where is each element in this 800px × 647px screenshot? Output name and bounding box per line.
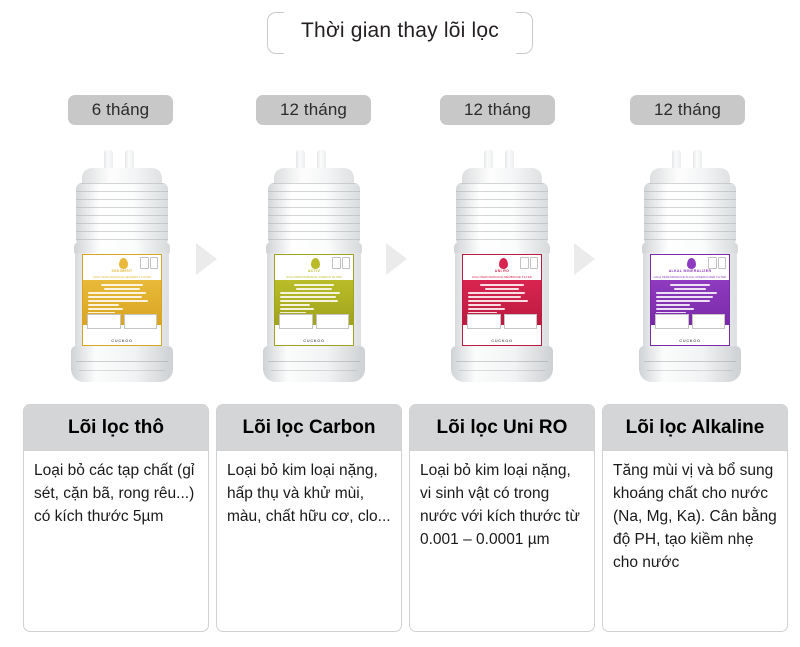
filter-info-card-body-1: Loại bỏ các tạp chất (gỉ sét, cặn bã, ro… (24, 451, 208, 529)
cartridge-base (263, 346, 365, 382)
flow-arrow-icon-3 (574, 243, 595, 275)
cartridge-label-date-fields (87, 314, 157, 329)
cartridge-brand-label: CUCKOO (275, 338, 353, 343)
cartridge-label-date-fields (467, 314, 537, 329)
cartridge-label-title: SEDIMENT (83, 269, 161, 273)
replacement-period-badge-3: 12 tháng (440, 95, 555, 125)
filter-info-card-title-4: Lõi lọc Alkaline (603, 405, 787, 451)
filter-cartridge-2: ACTIV HIGH PERFORMANCE CARBON FILTER CUC… (262, 150, 366, 382)
filter-info-card-2: Lõi lọc Carbon Loại bỏ kim loại nặng, hấ… (216, 404, 402, 632)
cartridge-label-title: UNI RO (463, 269, 541, 273)
filter-info-card-title-2: Lõi lọc Carbon (217, 405, 401, 451)
filter-info-card-title-1: Lõi lọc thô (24, 405, 208, 451)
filter-info-card-4: Lõi lọc Alkaline Tăng mùi vị và bổ sung … (602, 404, 788, 632)
cartridge-label-subtitle: HIGH PERFORMANCE MEMBRANE FILTER (463, 275, 541, 279)
cartridge-label-3: UNI RO HIGH PERFORMANCE MEMBRANE FILTER … (462, 254, 542, 346)
cartridge-label-header: ALKAL MINERALIZER HIGH PERFORMANCE ALKAL… (651, 255, 729, 281)
cartridge-label-date-fields (655, 314, 725, 329)
page-title: Thời gian thay lõi lọc (267, 12, 533, 52)
filter-info-card-1: Lõi lọc thô Loại bỏ các tạp chất (gỉ sét… (23, 404, 209, 632)
cartridge-ribbed-section (456, 183, 548, 245)
replacement-period-badge-2: 12 tháng (256, 95, 371, 125)
cartridge-label-subtitle: HIGH PERFORMANCE CARBON FILTER (275, 275, 353, 279)
certification-icons (708, 257, 726, 269)
water-drop-icon (499, 258, 508, 269)
cartridge-label-header: UNI RO HIGH PERFORMANCE MEMBRANE FILTER (463, 255, 541, 281)
cartridge-label-header: SEDIMENT HIGH PERFORMANCE SEDIMENT FILTE… (83, 255, 161, 281)
filter-cartridge-4: ALKAL MINERALIZER HIGH PERFORMANCE ALKAL… (638, 150, 742, 382)
cartridge-brand-label: CUCKOO (463, 338, 541, 343)
cartridge-ribbed-section (644, 183, 736, 245)
water-drop-icon (311, 258, 320, 269)
cartridge-label-date-fields (279, 314, 349, 329)
flow-arrow-icon-1 (196, 243, 217, 275)
cartridge-label-title: ALKAL MINERALIZER (651, 269, 729, 273)
cartridge-label-1: SEDIMENT HIGH PERFORMANCE SEDIMENT FILTE… (82, 254, 162, 346)
certification-icons (140, 257, 158, 269)
filter-info-card-3: Lõi lọc Uni RO Loại bỏ kim loại nặng, vi… (409, 404, 595, 632)
water-drop-icon (119, 258, 128, 269)
filter-info-card-body-3: Loại bỏ kim loại nặng, vi sinh vật có tr… (410, 451, 594, 552)
cartridge-ribbed-section (76, 183, 168, 245)
cartridge-base (71, 346, 173, 382)
filter-info-card-title-3: Lõi lọc Uni RO (410, 405, 594, 451)
cartridge-label-header: ACTIV HIGH PERFORMANCE CARBON FILTER (275, 255, 353, 281)
certification-icons (520, 257, 538, 269)
cartridge-ribbed-section (268, 183, 360, 245)
filter-info-card-body-4: Tăng mùi vị và bổ sung khoáng chất cho n… (603, 451, 787, 575)
replacement-period-badge-4: 12 tháng (630, 95, 745, 125)
filter-cartridge-1: SEDIMENT HIGH PERFORMANCE SEDIMENT FILTE… (70, 150, 174, 382)
flow-arrow-icon-2 (386, 243, 407, 275)
filter-cartridge-3: UNI RO HIGH PERFORMANCE MEMBRANE FILTER … (450, 150, 554, 382)
cartridge-brand-label: CUCKOO (83, 338, 161, 343)
cartridge-base (639, 346, 741, 382)
cartridge-label-subtitle: HIGH PERFORMANCE ALKAL MINERALIZER FILTE… (651, 275, 729, 279)
filter-replacement-infographic: Thời gian thay lõi lọc 6 tháng 12 tháng … (0, 0, 800, 647)
cartridge-brand-label: CUCKOO (651, 338, 729, 343)
page-title-container: Thời gian thay lõi lọc (0, 12, 800, 52)
replacement-period-badge-1: 6 tháng (68, 95, 173, 125)
cartridge-label-2: ACTIV HIGH PERFORMANCE CARBON FILTER CUC… (274, 254, 354, 346)
filter-info-card-body-2: Loại bỏ kim loại nặng, hấp thụ và khử mù… (217, 451, 401, 529)
cartridge-label-4: ALKAL MINERALIZER HIGH PERFORMANCE ALKAL… (650, 254, 730, 346)
water-drop-icon (687, 258, 696, 269)
certification-icons (332, 257, 350, 269)
cartridge-label-title: ACTIV (275, 269, 353, 273)
cartridge-base (451, 346, 553, 382)
cartridge-label-subtitle: HIGH PERFORMANCE SEDIMENT FILTER (83, 275, 161, 279)
